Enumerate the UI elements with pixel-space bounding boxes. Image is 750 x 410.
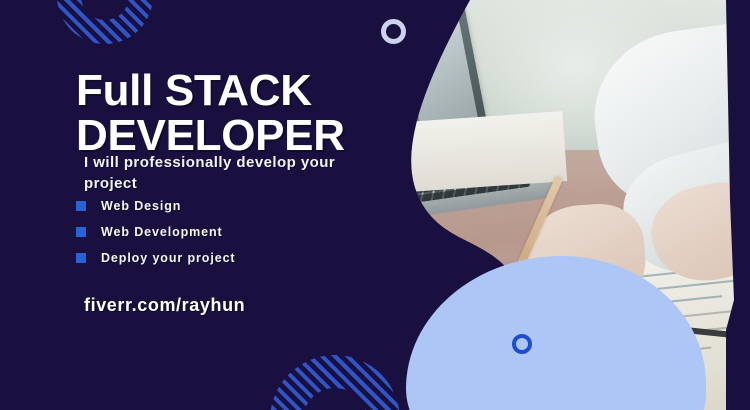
circle-outline-bottom-icon bbox=[512, 334, 532, 354]
bullet-square-icon bbox=[76, 201, 86, 211]
service-label: Web Development bbox=[101, 225, 223, 239]
service-label: Deploy your project bbox=[101, 251, 235, 265]
list-item: Deploy your project bbox=[76, 245, 235, 271]
list-item: Web Development bbox=[76, 219, 235, 245]
profile-url: fiverr.com/rayhun bbox=[84, 295, 245, 316]
poster-content: Full STACK DEVELOPER I will professional… bbox=[0, 0, 420, 410]
promo-poster: Full STACK DEVELOPER I will professional… bbox=[0, 0, 750, 410]
subtitle: I will professionally develop your proje… bbox=[84, 153, 374, 194]
headline-line-1: Full STACK bbox=[76, 69, 406, 114]
service-list: Web Design Web Development Deploy your p… bbox=[76, 193, 235, 271]
bullet-square-icon bbox=[76, 253, 86, 263]
service-label: Web Design bbox=[101, 199, 181, 213]
bullet-square-icon bbox=[76, 227, 86, 237]
list-item: Web Design bbox=[76, 193, 235, 219]
page-title: Full STACK DEVELOPER bbox=[76, 69, 406, 159]
